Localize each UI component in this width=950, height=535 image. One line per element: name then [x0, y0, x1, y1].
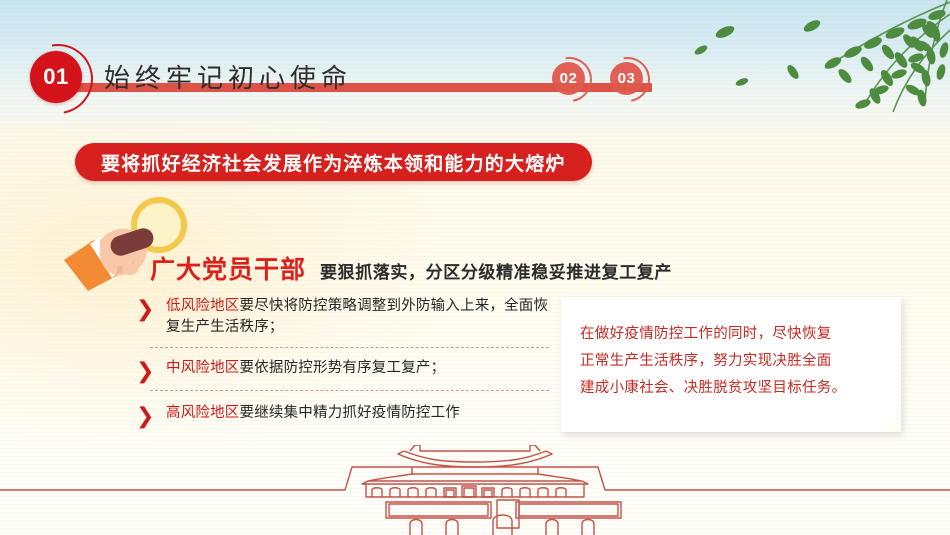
step-badge-02-label: 02 [560, 70, 578, 87]
step-badge-01[interactable]: 01 [30, 51, 82, 103]
list-item: ❯ 中风险地区要依据防控形势有序复工复产； [134, 358, 549, 379]
list-item-body: 要依据防控形势有序复工复产； [240, 360, 446, 376]
section-subtitle: 广大党员干部 要狠抓落实，分区分级精准稳妥推进复工复产 [150, 250, 672, 286]
page-title: 始终牢记初心使命 [104, 58, 352, 95]
slide-canvas: 01 02 03 始终牢记初心使命 要将抓好经济社会发展作为淬炼本领和能力的大熔… [0, 0, 950, 535]
step-badge-02[interactable]: 02 [552, 62, 585, 95]
list-item-text: 中风险地区要依据防控形势有序复工复产； [166, 358, 549, 379]
list-item-highlight: 低风险地区 [166, 298, 240, 314]
subtitle-rest: 要狠抓落实，分区分级精准稳妥推进复工复产 [320, 258, 672, 283]
list-item-highlight: 中风险地区 [166, 360, 240, 376]
note-card-text: 在做好疫情防控工作的同时，尽快恢复 正常生产生活秩序，努力实现决胜全面 建成小康… [580, 321, 880, 402]
step-badge-03-label: 03 [618, 70, 636, 87]
header: 01 02 03 始终牢记初心使命 [0, 22, 950, 90]
list-item-text: 高风险地区要继续集中精力抓好疫情防控工作 [166, 403, 549, 424]
list-item: ❯ 低风险地区要尽快将防控策略调整到外防输入上来，全面恢复生产生活秩序； [134, 296, 549, 338]
tiananmen-gate-outline [0, 445, 950, 535]
headline-banner-text: 要将抓好经济社会发展作为淬炼本领和能力的大熔炉 [101, 149, 566, 176]
list-separator [150, 347, 549, 348]
list-item: ❯ 高风险地区要继续集中精力抓好疫情防控工作 [134, 403, 549, 424]
list-item-text: 低风险地区要尽快将防控策略调整到外防输入上来，全面恢复生产生活秩序； [166, 296, 549, 338]
step-badge-03[interactable]: 03 [610, 62, 643, 95]
note-card-line: 正常生产生活秩序，努力实现决胜全面 [580, 348, 880, 375]
list-item-body: 要继续集中精力抓好疫情防控工作 [240, 405, 461, 421]
headline-banner: 要将抓好经济社会发展作为淬炼本领和能力的大熔炉 [75, 143, 592, 181]
chevron-right-icon: ❯ [136, 405, 156, 427]
note-card: 在做好疫情防控工作的同时，尽快恢复 正常生产生活秩序，努力实现决胜全面 建成小康… [561, 297, 901, 432]
note-card-line: 在做好疫情防控工作的同时，尽快恢复 [580, 321, 880, 348]
bullet-list: ❯ 低风险地区要尽快将防控策略调整到外防输入上来，全面恢复生产生活秩序； ❯ 中… [134, 296, 549, 424]
chevron-right-icon: ❯ [136, 298, 156, 320]
list-separator [150, 390, 549, 391]
subtitle-highlight: 广大党员干部 [150, 250, 306, 286]
card-fold-corner-highlight [879, 410, 901, 432]
note-card-line: 建成小康社会、决胜脱贫攻坚目标任务。 [580, 375, 880, 402]
step-badge-01-label: 01 [43, 64, 68, 90]
list-item-highlight: 高风险地区 [166, 405, 240, 421]
chevron-right-icon: ❯ [136, 360, 156, 382]
